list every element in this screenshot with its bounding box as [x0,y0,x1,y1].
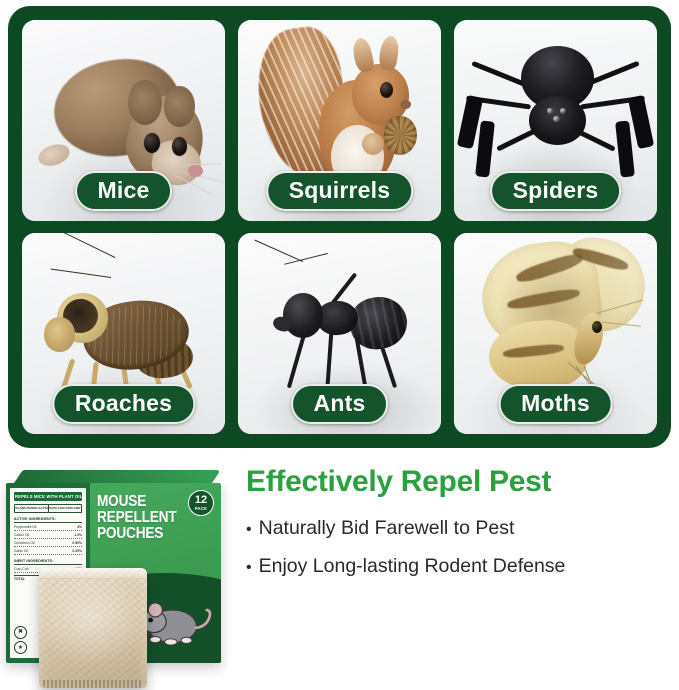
label-claim-1: PLANT-BASED ACTIVES [15,505,48,512]
ingredient-row: Peppermint Oil 4% [14,525,82,531]
pest-label-ants: Ants [291,384,389,424]
pest-label-moths: Moths [498,384,613,424]
ingredient-name: Corn Cob [14,567,29,571]
no-spray-icon: ✖ [14,626,27,639]
bullet-marker: • [246,522,252,538]
pest-grid-panel: Mice Squirrels [8,6,671,448]
pest-card-moths[interactable]: Moths [454,233,657,434]
total-label: TOTAL [14,577,25,581]
package-title-line-2: REPELLENT [97,510,180,526]
pack-count-unit: PACK [195,507,207,511]
pack-count-number: 12 [195,495,207,506]
ingredient-row: Garlic Oil 0.20% [14,549,82,555]
pest-row-1: Mice Squirrels [22,20,657,221]
pouch-bottom-seam [43,680,143,688]
pest-card-roaches[interactable]: Roaches [22,233,225,434]
ingredient-name: Garlic Oil [14,549,28,553]
package-title-line-3: POUCHES [97,526,180,542]
pest-card-spiders[interactable]: Spiders [454,20,657,221]
headline: Effectively Repel Pest [246,466,674,498]
pest-card-squirrels[interactable]: Squirrels [238,20,441,221]
pack-count-badge: 12 PACK [188,490,214,516]
ingredient-name: Peppermint Oil [14,525,36,529]
pouch-seal [39,568,147,579]
no-children-icon: ★ [14,641,27,654]
list-item: • Naturally Bid Farewell to Pest [246,516,674,540]
inert-ingredients-heading: INERT INGREDIENTS: [14,559,82,565]
label-claims: PLANT-BASED ACTIVES SAFE FOR KIDS AND PE… [14,504,82,513]
pest-label-spiders: Spiders [490,171,622,211]
bullet-marker: • [246,560,252,576]
list-item: • Enjoy Long-lasting Rodent Defense [246,554,674,578]
active-ingredients-heading: ACTIVE INGREDIENTS: [14,517,82,523]
marketing-copy: Effectively Repel Pest • Naturally Bid F… [246,466,674,592]
repellent-pouch [39,568,147,688]
pest-label-roaches: Roaches [52,384,195,424]
ingredient-name: Castor Oil [14,533,29,537]
benefit-text: Naturally Bid Farewell to Pest [259,516,515,540]
pest-label-mice: Mice [75,171,173,211]
benefit-text: Enjoy Long-lasting Rodent Defense [259,554,566,578]
pest-card-mice[interactable]: Mice [22,20,225,221]
benefit-list: • Naturally Bid Farewell to Pest • Enjoy… [246,516,674,579]
ingredient-name: Cinnamon Oil [14,541,35,545]
package-title: MOUSE REPELLENT POUCHES [97,494,180,541]
ingredient-value: 0.20% [72,549,82,553]
ingredient-value: 0.50% [72,541,82,545]
label-claim-2: SAFE FOR KIDS AND PETS [48,505,82,512]
package-title-line-1: MOUSE [97,494,180,510]
ingredient-row: Castor Oil 1.3% [14,533,82,539]
ingredient-value: 4% [77,525,82,529]
pest-label-squirrels: Squirrels [266,171,414,211]
label-banner: REPELS MICE WITH PLANT OILS [14,492,82,501]
product-marketing-image: Mice Squirrels [0,0,679,690]
ingredient-row: Cinnamon Oil 0.50% [14,541,82,547]
product-and-copy-section: REPELS MICE WITH PLANT OILS PLANT-BASED … [0,452,679,690]
ingredient-value: 1.3% [74,533,82,537]
pest-row-2: Roaches Ants [22,233,657,434]
product-package: REPELS MICE WITH PLANT OILS PLANT-BASED … [6,470,238,682]
pest-card-ants[interactable]: Ants [238,233,441,434]
